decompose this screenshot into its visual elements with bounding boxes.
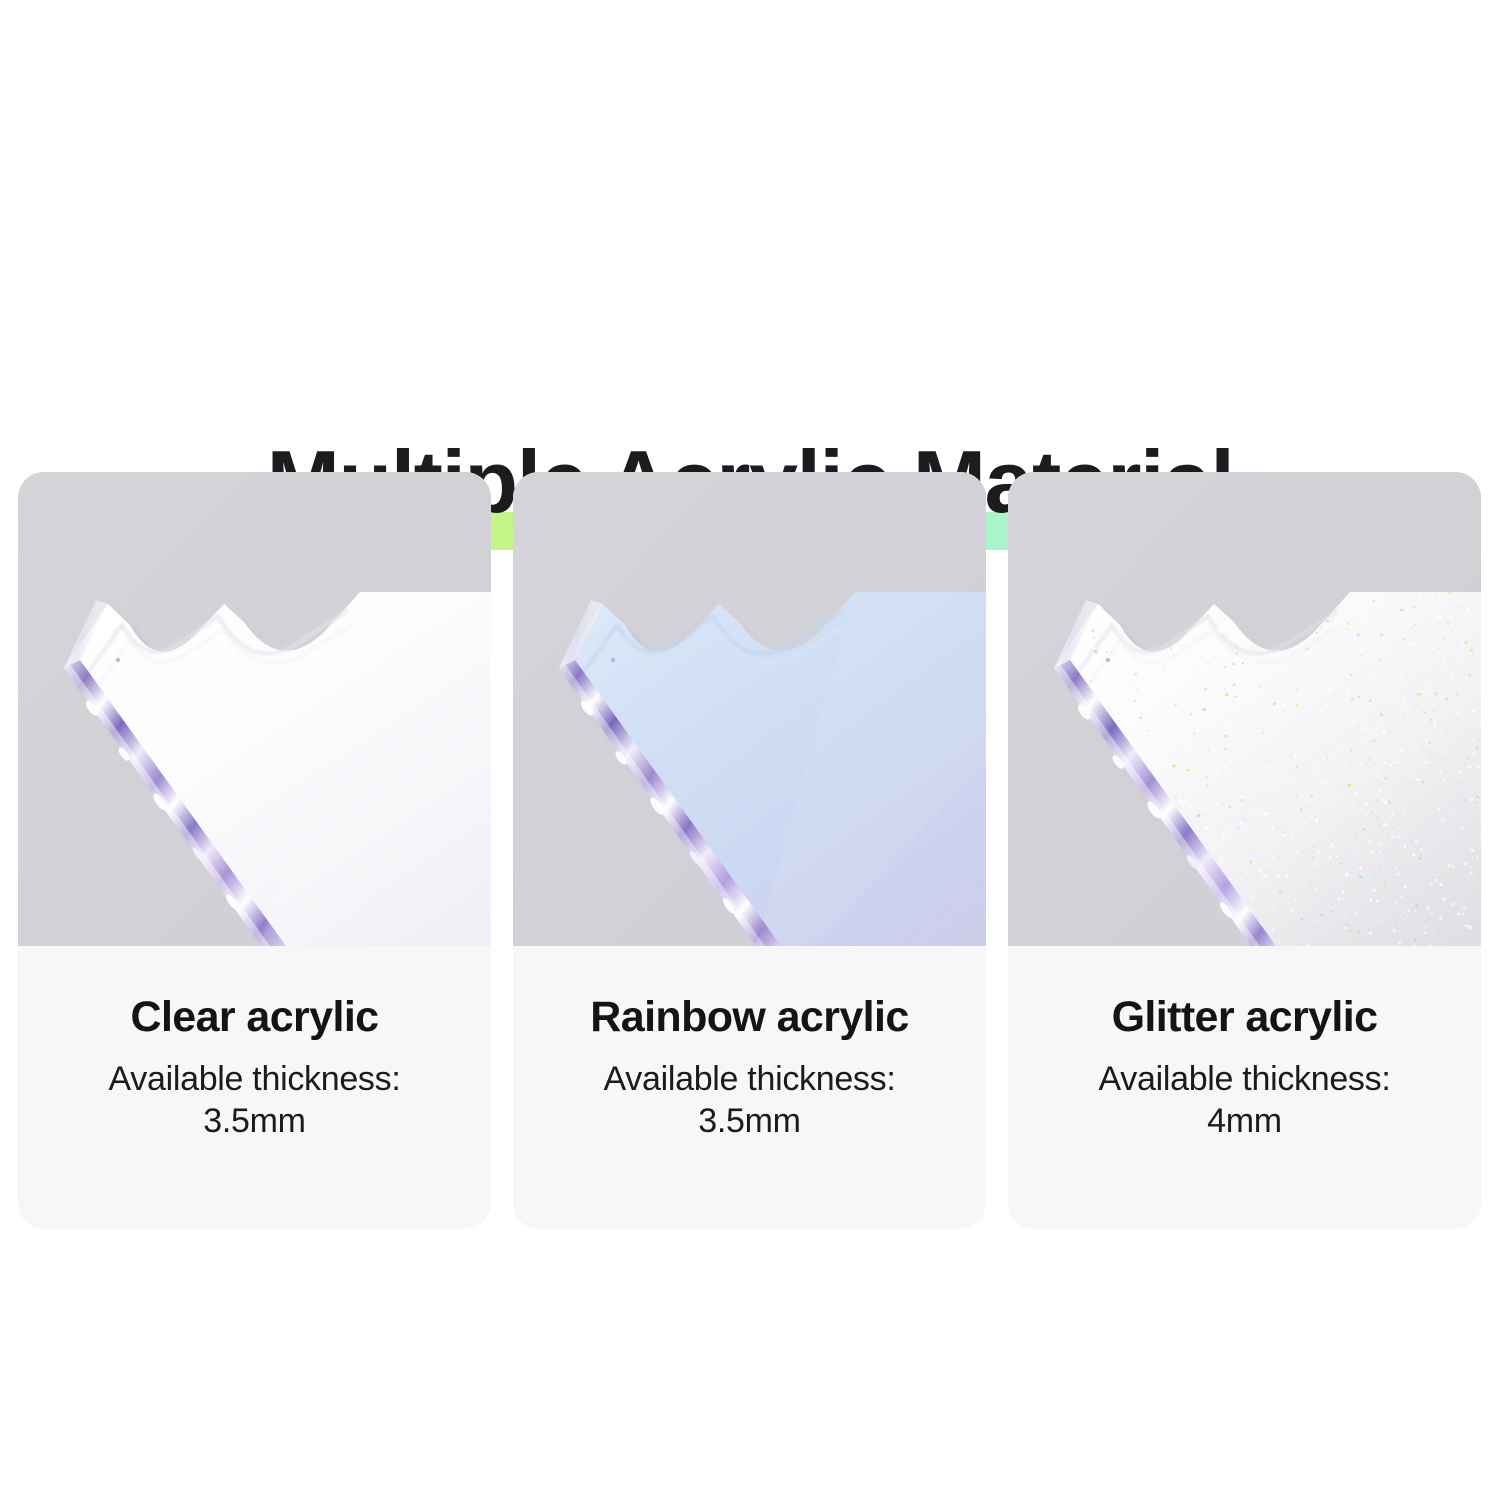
- material-thickness: Available thickness: 4mm: [1026, 1058, 1463, 1142]
- material-card-glitter-acrylic[interactable]: Glitter acrylic Available thickness: 4mm: [1008, 472, 1481, 1229]
- header: Multiple Acrylic Material: [0, 212, 1500, 362]
- material-thickness: Available thickness: 3.5mm: [36, 1058, 473, 1142]
- thickness-label: Available thickness:: [1099, 1060, 1391, 1098]
- card-caption: Rainbow acrylic Available thickness: 3.5…: [513, 946, 986, 1229]
- thickness-value: 3.5mm: [203, 1102, 305, 1140]
- material-title: Rainbow acrylic: [531, 992, 968, 1042]
- acrylic-material-infographic: Multiple Acrylic Material: [0, 0, 1500, 1500]
- glitter-acrylic-sheet-photo: [1008, 472, 1481, 946]
- material-thickness: Available thickness: 3.5mm: [531, 1058, 968, 1142]
- material-card-clear-acrylic[interactable]: Clear acrylic Available thickness: 3.5mm: [18, 472, 491, 1229]
- thickness-label: Available thickness:: [604, 1060, 896, 1098]
- material-title: Glitter acrylic: [1026, 992, 1463, 1042]
- material-card-grid: Clear acrylic Available thickness: 3.5mm: [18, 472, 1482, 1229]
- card-caption: Clear acrylic Available thickness: 3.5mm: [18, 946, 491, 1229]
- card-caption: Glitter acrylic Available thickness: 4mm: [1008, 946, 1481, 1229]
- material-card-rainbow-acrylic[interactable]: Rainbow acrylic Available thickness: 3.5…: [513, 472, 986, 1229]
- thickness-value: 4mm: [1207, 1102, 1282, 1140]
- rainbow-acrylic-sheet-photo: [513, 472, 986, 946]
- thickness-value: 3.5mm: [698, 1102, 800, 1140]
- clear-acrylic-sheet-photo: [18, 472, 491, 946]
- material-title: Clear acrylic: [36, 992, 473, 1042]
- thickness-label: Available thickness:: [109, 1060, 401, 1098]
